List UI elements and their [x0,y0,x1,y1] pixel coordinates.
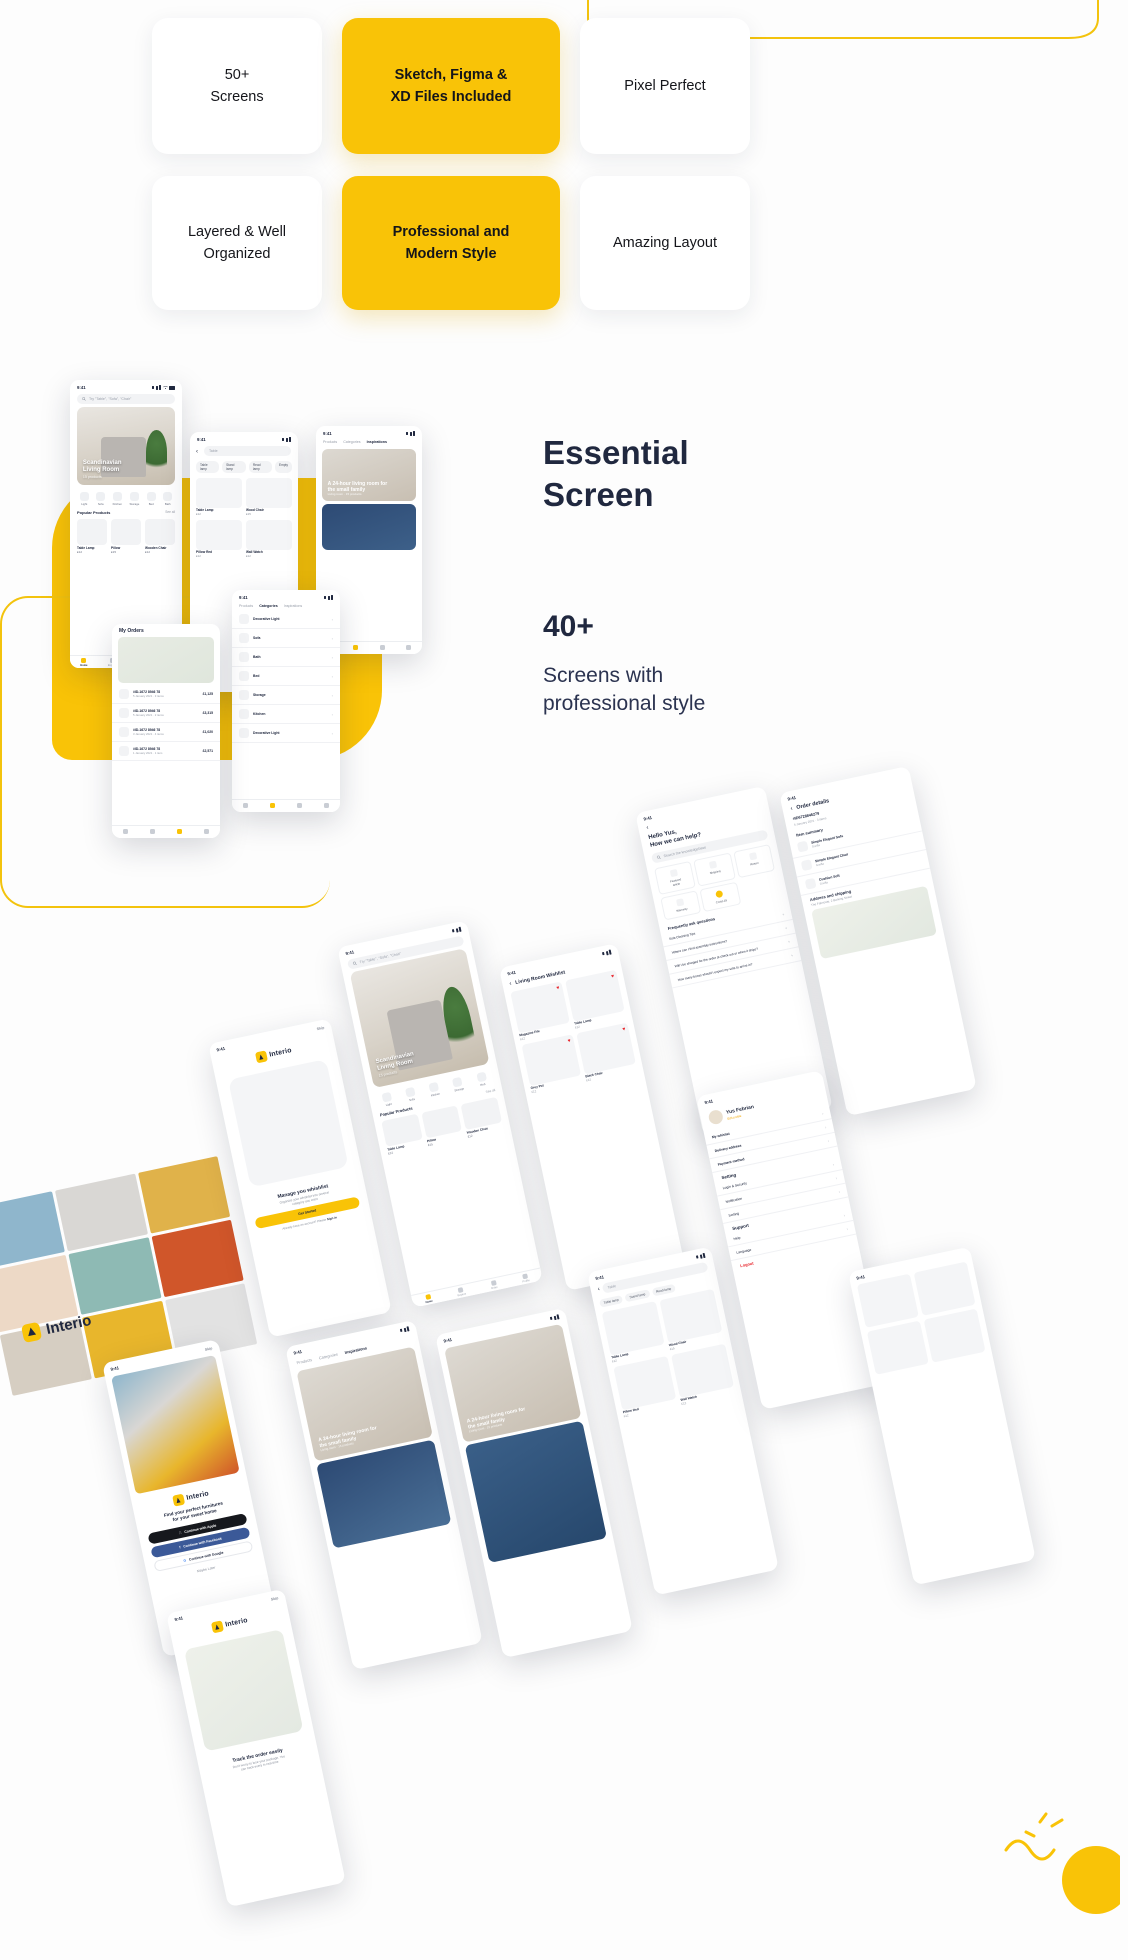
category-light[interactable]: Light [80,492,89,506]
feature-card-label: 50+ Screens [210,64,263,109]
tab-profile[interactable] [406,645,411,651]
back-icon[interactable]: ‹ [790,806,793,812]
tab-label: Order [491,1285,498,1289]
product-row: Table Lamp£12 Pillow£15 Wooden Chair£12 [70,517,182,556]
order-price: £1,125 [203,692,213,696]
category-storage[interactable]: Storage [129,492,139,506]
category-bed[interactable]: Bed [147,492,156,506]
tab-explore[interactable] [270,803,275,809]
status-icons [152,385,175,390]
category-sofa[interactable]: Sofa [405,1087,417,1103]
product-price: £12 [77,550,107,554]
storage-icon [239,690,249,700]
product-price: £15 [111,550,141,554]
tab-home[interactable]: Home [80,658,87,667]
result-card[interactable] [924,1308,986,1362]
tab-home[interactable]: Home [424,1293,433,1303]
screen-count: 40+ [543,610,594,644]
inspiration-card[interactable]: A 24-hour living room for the small fami… [322,449,416,501]
help-tile-shipping[interactable]: Shipping [693,852,735,886]
feature-card-amazing-layout: Amazing Layout [580,176,750,310]
status-bar: 9:41 [316,426,422,438]
section-title: Popular Products [77,510,110,515]
explore-icon [270,803,275,808]
interio-wordmark: Interio [186,1490,210,1502]
plus-icon: + [784,925,787,930]
product-image [867,1321,929,1375]
product-image [857,1274,919,1328]
hero-card-scandinavian[interactable]: Scandinavian Living Room 15 products [350,948,490,1088]
result-card[interactable]: Pillow Red£12 [613,1356,678,1418]
wishlist-illustration [228,1059,349,1187]
status-time: 9:41 [704,1098,713,1105]
chevron-right-icon: › [821,1111,823,1116]
item-thumb [801,859,813,871]
bottom-tab-bar: Home Explore Order Profile [411,1268,543,1308]
product-price: £12 [246,554,292,558]
status-icons [400,1326,410,1333]
plant-image [146,430,168,475]
tab-profile[interactable] [204,829,209,835]
category-list-item[interactable]: Decorative Light› [232,610,340,629]
heading-line-2: Screen [543,474,689,516]
inspiration-caption: A 24-hour living room for the small fami… [328,481,388,497]
order-price: £2,571 [203,749,213,753]
search-input[interactable]: Table [204,446,291,456]
result-card[interactable]: Table Lamp£12 [196,478,242,516]
result-card[interactable]: Wall Watch£12 [671,1344,736,1406]
button-label: Continue with Google [189,1550,224,1561]
signin-link[interactable]: Sign in [327,1215,338,1221]
item-thumb [805,878,817,890]
tab-explore[interactable] [353,645,358,651]
tab-home[interactable] [123,829,128,835]
status-time: 9:41 [643,815,652,822]
order-id: #ID-1672 8946 783 January 2021 · 4 items [133,728,199,736]
status-icons [406,431,415,436]
chevron-right-icon: › [827,1138,829,1143]
feature-card-label: Professional and Modern Style [393,221,510,266]
status-time: 9:41 [110,1365,119,1372]
wishlist-card[interactable]: ♥Grey Pot£12 [522,1034,583,1094]
wifi-icon [163,385,168,390]
status-time: 9:41 [293,1349,302,1356]
category-name: Decorative Light [253,731,328,735]
interio-wordmark: Interio [225,1617,249,1629]
see-all-link[interactable]: See all [165,510,175,515]
avatar[interactable] [707,1109,724,1126]
category-kitchen[interactable]: Kitchen [113,492,122,506]
feature-card-label: Layered & Well Organized [188,221,286,266]
track-map-illustration [184,1629,303,1752]
truck-icon [709,861,717,869]
tab-categories[interactable]: Categories [343,440,360,444]
wishlist-card[interactable]: ♥Table Lamp£12 [565,970,626,1030]
chevron-right-icon: › [332,617,333,622]
status-bar: 9:41 [190,432,298,444]
status-bar: 9:41 [70,380,182,392]
segmented-tabs: Products Categories Inspirations [316,438,422,446]
result-card[interactable]: Wood Chair£15 [659,1289,724,1351]
see-all-link[interactable]: See all [485,1088,496,1095]
feature-card-screens: 50+ Screens [152,18,322,154]
tab-order[interactable] [177,829,182,835]
result-card[interactable] [857,1274,919,1328]
product-card[interactable]: Wooden Chair£12 [145,519,175,554]
order-row[interactable]: #ID-1672 8946 783 January 2021 · 4 items… [112,723,220,742]
heart-icon[interactable]: ♥ [611,973,615,979]
filter-chip-row: Table lamp Stand lamp Read lamp Empty [190,458,298,476]
tile-label: Covid-19 [715,898,727,904]
chevron-right-icon: › [824,1124,826,1129]
search-icon [82,397,86,401]
chevron-right-icon: › [332,693,333,698]
tab-explore[interactable] [150,829,155,835]
product-image [246,478,292,508]
status-time: 9:41 [174,1615,183,1622]
hero-caption: Scandinavian Living Room 15 products [83,460,122,480]
result-card[interactable]: Pillow Red£12 [196,520,242,558]
status-time: 9:41 [77,385,86,390]
category-name: Sofa [253,636,328,640]
order-date: 3 January 2021 · 4 items [133,732,199,736]
tab-categories[interactable]: Categories [259,604,278,608]
tile-label: Warranty [676,907,688,913]
explore-icon [150,829,155,834]
tab-label: Profile [522,1279,530,1283]
status-time: 9:41 [197,437,206,442]
category-list-item[interactable]: Storage› [232,686,340,705]
product-price: £12 [196,512,242,516]
status-icons [324,595,333,600]
category-label: Bed [480,1082,486,1087]
chevron-right-icon: › [332,712,333,717]
profile-icon [324,803,329,808]
heart-icon[interactable]: ♥ [622,1026,626,1032]
result-card[interactable]: Table Lamp£12 [602,1301,667,1363]
tab-order[interactable] [380,645,385,651]
interio-mark-icon [255,1050,268,1063]
interio-mark-icon [211,1620,224,1633]
order-icon [297,803,302,808]
status-time: 9:41 [323,431,332,436]
status-icons [696,1253,706,1260]
search-input[interactable]: Try "Table", "Sofa", "Chair" [77,394,175,404]
order-thumb [119,746,129,756]
chip-empty[interactable]: Empty [275,461,292,473]
result-card[interactable] [867,1321,929,1375]
inspiration-card-secondary[interactable] [322,504,416,550]
tab-inspirations[interactable]: Inspirations [367,440,387,444]
chevron-right-icon: › [835,1175,837,1180]
chip-table-lamp[interactable]: Table lamp [196,461,219,473]
kitchen-icon [239,709,249,719]
tab-profile[interactable]: Profile [521,1273,530,1283]
status-time: 9:41 [787,795,796,802]
delivery-map[interactable] [118,637,214,683]
tab-products[interactable]: Products [323,440,337,444]
search-results-grid: Table Lamp£12 Wood Chair£15 Pillow Red£1… [595,1286,742,1422]
order-thumb [119,689,129,699]
product-card[interactable]: Table Lamp£12 [381,1114,424,1156]
feature-card-label: Amazing Layout [613,232,717,254]
phone-mock-edge-partial: 9:41 [848,1247,1036,1586]
order-thumb [119,727,129,737]
status-time: 9:41 [507,970,516,977]
status-time: 9:41 [216,1046,225,1053]
feature-card-layered: Layered & Well Organized [152,176,322,310]
chevron-right-icon: › [843,1212,845,1217]
segmented-tabs: Products Categories Inspirations [232,602,340,610]
product-image [145,519,175,545]
back-icon[interactable]: ‹ [509,981,512,987]
category-label: Bed [149,502,154,506]
heading-line-1: Essential [543,432,689,474]
bed-icon [239,671,249,681]
order-icon [177,829,182,834]
status-icons [452,927,462,934]
category-bed[interactable]: Bed [476,1072,488,1088]
product-card[interactable]: Table Lamp£12 [77,519,107,554]
order-price: £3,315 [203,711,213,715]
edit-profile-link[interactable]: Edit profile [727,1113,742,1120]
order-date: 1 January 2021 · 1 item [133,751,199,755]
inspiration-meta: Living room · 15 products [328,493,388,497]
category-bath[interactable]: Bath [163,492,172,506]
kitchen-icon [113,492,122,501]
category-list-item[interactable]: Kitchen› [232,705,340,724]
tab-categories[interactable]: Categories [318,1352,338,1361]
hero-title-line-2: Living Room [83,467,119,473]
category-label: Storage [454,1086,464,1092]
result-card[interactable]: Wood Chair£15 [246,478,292,516]
tab-order[interactable] [297,803,302,809]
profile-icon [204,829,209,834]
order-icon [380,645,385,650]
feature-card-grid: 50+ Screens Sketch, Figma & XD Files Inc… [152,18,752,310]
wishlist-grid: ♥Magazine File£12 ♥Table Lamp£12 ♥Grey P… [504,967,644,1098]
plus-icon: + [790,953,793,958]
product-image [111,519,141,545]
category-label: Light [81,502,87,506]
search-query: Table [209,449,218,453]
category-name: Bed [253,674,328,678]
button-label: Continue with Facebook [183,1536,222,1548]
product-price: £15 [246,512,292,516]
bath-icon [239,652,249,662]
bath-icon [163,492,172,501]
button-label: Get Started [298,1209,317,1217]
tab-inspirations[interactable]: Inspirations [344,1345,367,1355]
back-icon[interactable]: ‹ [597,1286,600,1292]
tab-label: Home [425,1299,433,1303]
subtitle-line-2: professional style [543,690,705,718]
tab-explore[interactable]: Explore [456,1286,466,1297]
feature-card-files: Sketch, Figma & XD Files Included [342,18,560,154]
shield-icon [676,898,684,906]
interio-wordmark: Interio [269,1047,293,1059]
light-icon [80,492,89,501]
inspiration-caption: A 24-hour living room for the small fami… [318,1425,379,1453]
room-photo [465,1421,607,1563]
collage-image [111,1355,240,1494]
tile-label: Shipping [709,869,720,875]
storage-icon [130,492,139,501]
category-label: Kitchen [430,1092,440,1098]
status-time: 9:41 [595,1274,604,1281]
product-price: £12 [145,550,175,554]
tab-inspirations[interactable]: Inspirations [284,604,302,608]
chip-read-lamp[interactable]: Read lamp [249,461,272,473]
product-image [246,520,292,550]
order-id: #ID-1672 8946 785 January 2021 · 3 items [133,690,199,698]
return-icon [749,852,757,860]
chevron-right-icon: › [846,1226,848,1231]
category-name: Storage [253,693,328,697]
category-label: Kitchen [113,502,122,506]
sofa-icon [96,492,105,501]
category-sofa[interactable]: Sofa [96,492,105,506]
product-image [77,519,107,545]
essential-screen-heading: Essential Screen [543,432,689,516]
tab-order[interactable]: Order [489,1279,497,1289]
category-label: Sofa [98,502,104,506]
bottom-tab-bar [232,799,340,812]
lamp-icon [239,614,249,624]
plus-icon: + [782,912,785,917]
interio-mark-icon [21,1322,42,1343]
tile-label: Return [750,861,759,867]
tab-products[interactable]: Products [239,604,253,608]
chevron-right-icon: › [332,636,333,641]
chip-stand-lamp[interactable]: Stand lamp [222,461,246,473]
hero-card-scandinavian[interactable]: Scandinavian Living Room 15 products [77,407,175,485]
category-name: Kitchen [253,712,328,716]
category-label: Storage [129,502,139,506]
category-kitchen[interactable]: Kitchen [428,1082,440,1098]
tab-profile[interactable] [324,803,329,809]
orders-title: My Orders [112,624,220,635]
tile-label: Featured article [670,877,682,887]
heart-icon[interactable]: ♥ [556,985,560,991]
apple-icon:  [179,1531,182,1535]
order-date: 5 January 2021 · 3 items [133,694,199,698]
virus-icon [716,890,724,898]
help-tile-return[interactable]: Return [733,844,775,878]
product-card[interactable]: Pillow£15 [421,1105,464,1147]
bed-icon [147,492,156,501]
category-name: Bath [253,655,328,659]
screen-count-subtitle: Screens with professional style [543,662,705,718]
product-image [196,478,242,508]
skip-link[interactable]: Skip [204,1346,212,1351]
skip-link[interactable]: Skip [270,1596,278,1601]
search-query: Table [607,1284,616,1290]
sofa-icon [239,633,249,643]
order-row[interactable]: #ID-1672 8946 785 January 2021 · 3 items… [112,685,220,704]
status-icons [282,437,291,442]
help-tile-featured[interactable]: Featured article [654,861,696,895]
feature-card-pixel-perfect: Pixel Perfect [580,18,750,154]
status-icons [602,949,612,956]
order-row[interactable]: #ID-1672 8946 781 January 2021 · 1 item£… [112,742,220,761]
google-icon: G [183,1558,186,1562]
tab-label: Explore [457,1292,466,1297]
chevron-right-icon: › [332,655,333,660]
category-list-item[interactable]: Sofa› [232,629,340,648]
category-row: Light Sofa Kitchen Storage Bed Bath [70,488,182,508]
article-icon [670,869,678,877]
phone-mock-orders: My Orders #ID-1672 8946 785 January 2021… [112,624,220,838]
search-placeholder: Try "Table", "Sofa", "Chair" [89,397,131,401]
phone-mock-track-order: 9:41 Skip Interio Track the order easily… [166,1589,346,1907]
product-card[interactable]: Wooden Chair£12 [461,1097,504,1139]
order-price: £1,020 [203,730,213,734]
category-list-item[interactable]: Bed› [232,667,340,686]
product-card[interactable]: Pillow£15 [111,519,141,554]
explore-icon [353,645,358,650]
chevron-right-icon: › [332,674,333,679]
category-list-item[interactable]: Bath› [232,648,340,667]
home-icon [243,803,248,808]
chevron-right-icon: › [332,731,333,736]
light-icon [239,728,249,738]
chevron-right-icon: › [832,1162,834,1167]
result-card[interactable]: Wall Watch£12 [246,520,292,558]
order-row[interactable]: #ID-1672 8946 785 January 2021 · 2 items… [112,704,220,723]
order-thumb [119,708,129,718]
product-image [924,1308,986,1362]
order-date: 5 January 2021 · 2 items [133,713,199,717]
search-icon [352,961,357,966]
button-label: Continue with Apple [184,1523,217,1534]
tab-home[interactable] [243,803,248,809]
product-image [914,1262,976,1316]
heart-icon[interactable]: ♥ [567,1038,571,1044]
back-icon[interactable]: ‹ [196,449,198,455]
hero-subtitle: 15 products [83,475,122,479]
interio-mark-icon [172,1494,185,1507]
tab-label: Home [80,664,87,667]
tab-products[interactable]: Products [296,1357,312,1365]
phone-mock-categories: 9:41 Products Categories Inspirations De… [232,590,340,812]
wishlist-card[interactable]: ♥Magazine File£12 [510,981,571,1041]
home-icon [123,829,128,834]
category-name: Decorative Light [253,617,328,621]
order-id: #ID-1672 8946 781 January 2021 · 1 item [133,747,199,755]
product-image [196,520,242,550]
profile-icon [406,645,411,650]
skip-link[interactable]: Skip [316,1025,324,1030]
decorative-squiggle [1000,1810,1120,1920]
result-card[interactable] [914,1262,976,1316]
feature-card-professional: Professional and Modern Style [342,176,560,310]
category-label: Bath [165,502,171,506]
status-time: 9:41 [345,949,354,956]
category-light[interactable]: Light [382,1092,394,1108]
status-time: 9:41 [443,1337,452,1344]
home-icon [81,658,86,663]
product-price: £12 [196,554,242,558]
feature-card-label: Sketch, Figma & XD Files Included [391,64,512,109]
category-storage[interactable]: Storage [452,1077,464,1093]
category-list-item[interactable]: Decorative Light› [232,724,340,743]
hero-title-line-1: Scandinavian [83,460,122,466]
status-time: 9:41 [856,1274,865,1281]
popular-products-header: Popular Products See all [70,508,182,517]
ui-kit-presentation-page: 50+ Screens Sketch, Figma & XD Files Inc… [0,0,1128,1960]
wishlist-card[interactable]: ♥Black Chair£12 [576,1023,637,1083]
